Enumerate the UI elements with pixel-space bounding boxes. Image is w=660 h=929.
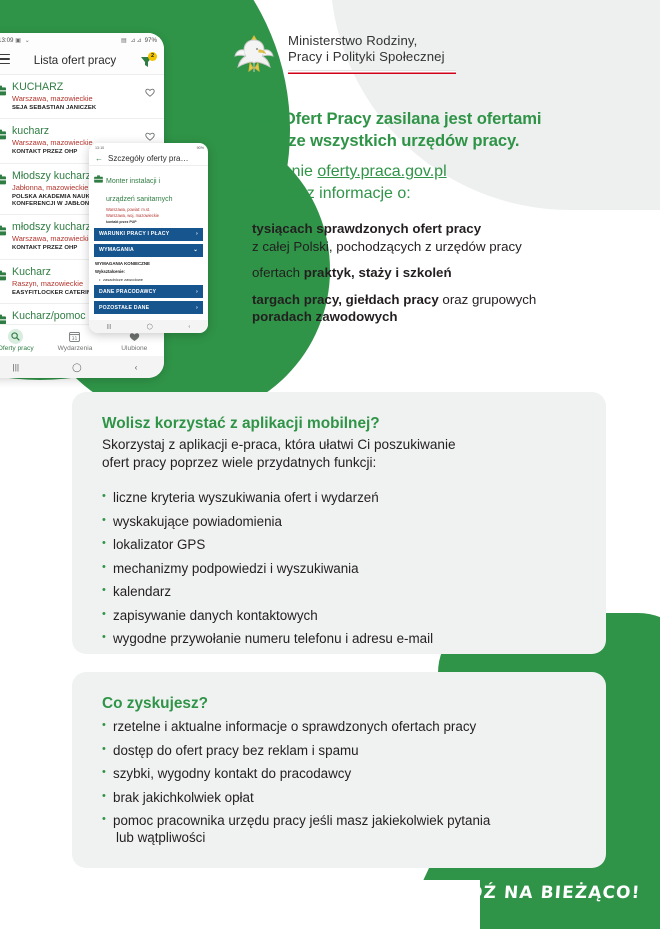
section-work-conditions[interactable]: WARUNKI PRACY I PŁACY › [94, 228, 203, 241]
chevron-right-icon: › [196, 289, 198, 295]
list-item: kalendarz [102, 583, 576, 600]
section-label: DANE PRACODAWCY [99, 289, 156, 295]
search-icon [8, 329, 23, 344]
back-button[interactable]: ‹ [188, 324, 190, 330]
hero-block: Baza Ofert Pracy zasilana jest ofertami … [240, 108, 640, 335]
hero-bullet-1-line2: z całej Polski, pochodzących z urzędów p… [252, 239, 522, 254]
nav-label: Ulubione [121, 345, 147, 352]
list-item: rzetelne i aktualne informacje o sprawdz… [102, 718, 576, 735]
briefcase-icon [94, 170, 103, 225]
nav-item-offers[interactable]: Oferty pracy [0, 329, 45, 352]
offer-header: Monter instalacji i urządzeń sanitarnych… [94, 170, 203, 225]
list-item: zapisywanie danych kontaktowych [102, 607, 576, 624]
mobile-app-feature-list: liczne kryteria wyszukiwania ofert i wyd… [102, 489, 576, 647]
hero-bullet-2-bold: praktyk, staży i szkoleń [304, 265, 452, 280]
hero-bullet-3-line2: poradach zawodowych [252, 309, 398, 324]
table-row[interactable]: KUCHARZ Warszawa, mazowieckie SEJA SEBAS… [0, 75, 164, 119]
heart-icon[interactable] [145, 81, 155, 112]
section-requirements[interactable]: WYMAGANIA ⌄ [94, 244, 203, 257]
list-item: wygodne przywołanie numeru telefonu i ad… [102, 630, 576, 647]
list-item: wyskakujące powiadomienia [102, 513, 576, 530]
list-item: lokalizator GPS [102, 536, 576, 553]
filter-badge-count: 2 [148, 52, 157, 61]
nav-label: Oferty pracy [0, 345, 34, 352]
chevron-down-icon: ⌄ [193, 247, 198, 253]
status-bar: 13:09 ▣ ⌄ ▤ ⊿⊿ 97% [0, 33, 164, 47]
offer-title-line1: Monter instalacji i [106, 178, 160, 185]
recents-button[interactable]: ||| [107, 324, 111, 330]
briefcase-icon [0, 266, 6, 297]
back-button[interactable]: ‹ [135, 362, 138, 372]
job-title: KUCHARZ [12, 81, 139, 93]
job-body: KUCHARZ Warszawa, mazowieckie SEJA SEBAS… [12, 81, 139, 112]
hero-title: Baza Ofert Pracy zasilana jest ofertami … [240, 108, 640, 152]
home-button[interactable]: ◯ [147, 324, 153, 330]
ministry-name-line1: Ministerstwo Rodziny, [288, 33, 456, 49]
offer-text-block: Monter instalacji i urządzeń sanitarnych… [106, 170, 173, 225]
list-item-text: szybki, wygodny kontakt do pracodawcy [113, 766, 351, 781]
chevron-right-icon: › [196, 231, 198, 237]
ministry-name-line2: Pracy i Polityki Społecznej [288, 49, 456, 65]
job-employer: SEJA SEBASTIAN JANICZEK [12, 105, 139, 112]
section-label: WYMAGANIA [99, 247, 134, 253]
list-item: liczne kryteria wyszukiwania ofert i wyd… [102, 489, 576, 506]
offer-detail-body: Monter instalacji i urządzeń sanitarnych… [89, 166, 208, 314]
list-item: pomoc pracownika urzędu pracy jeśli masz… [102, 812, 576, 846]
app-bar-title: Szczegóły oferty pra… [108, 154, 188, 163]
portal-link[interactable]: oferty.praca.gov.pl [317, 163, 446, 180]
svg-text:31: 31 [72, 336, 78, 342]
status-left: 13:09 ▣ ⌄ [0, 37, 31, 44]
hero-title-line1: Baza Ofert Pracy zasilana jest ofertami [240, 109, 541, 128]
benefits-list: rzetelne i aktualne informacje o sprawdz… [102, 718, 576, 846]
section-label: POZOSTAŁE DANE [99, 305, 149, 311]
battery-level: 90% [197, 146, 204, 150]
mobile-app-lead: Skorzystaj z aplikacji e-praca, która uł… [102, 436, 576, 472]
offer-title-line2: urządzeń sanitarnych [106, 196, 173, 203]
list-item-text: brak jakichkolwiek opłat [113, 790, 254, 805]
recents-button[interactable]: ||| [13, 362, 20, 372]
hero-bullet-1: tysiącach sprawdzonych ofert pracy z cał… [240, 220, 640, 255]
status-bar: 13:10 90% [89, 143, 208, 152]
status-time: 13:10 [95, 146, 104, 150]
status-left-icons: ▣ ⌄ [15, 37, 31, 44]
hero-bullet-1-bold: tysiącach sprawdzonych ofert pracy [252, 221, 481, 236]
offer-location-line1: Warszawa, powiat: m.st. [106, 207, 173, 212]
polish-eagle-emblem-icon [232, 30, 276, 80]
mobile-app-card: Wolisz korzystać z aplikacji mobilnej? S… [72, 392, 606, 654]
section-employer-data[interactable]: DANE PRACODAWCY › [94, 285, 203, 298]
list-item: szybki, wygodny kontakt do pracodawcy [102, 765, 576, 782]
footer-slogan: BĄDŹ NA BIEŻĄCO! [439, 883, 641, 903]
hero-subtitle: Na stronie oferty.praca.gov.pl znajdzies… [240, 161, 640, 205]
job-location: Warszawa, mazowieckie [12, 94, 139, 104]
hero-title-line2: pracy ze wszystkich urzędów pracy. [240, 131, 519, 150]
hero-sub-prefix: Na stronie [240, 163, 317, 180]
requirements-heading: WYMAGANIA KONIECZNE [95, 261, 203, 266]
hero-bullet-3: targach pracy, giełdach pracy oraz grupo… [240, 291, 640, 326]
hero-bullet-list: tysiącach sprawdzonych ofert pracy z cał… [240, 220, 640, 326]
list-item-text: rzetelne i aktualne informacje o sprawdz… [113, 719, 476, 734]
hero-bullet-3-bold: targach pracy, giełdach pracy [252, 292, 439, 307]
app-bar: ← Szczegóły oferty pra… [89, 152, 208, 166]
mobile-app-lead-line2: ofert pracy poprzez wiele przydatnych fu… [102, 455, 376, 470]
app-bar: Lista ofert pracy 2 [0, 47, 164, 75]
nav-label: Wydarzenia [58, 345, 93, 352]
system-navigation-bar: ||| ◯ ‹ [89, 320, 208, 333]
requirements-subheading: Wykształcenie: [95, 269, 203, 274]
benefits-card: Co zyskujesz? rzetelne i aktualne inform… [72, 672, 606, 868]
flag-rule-divider [288, 70, 456, 74]
job-title: kucharz [12, 125, 139, 137]
list-item-text: dostęp do ofert pracy bez reklam i spamu [113, 743, 359, 758]
poster-page: Ministerstwo Rodziny, Pracy i Polityki S… [0, 0, 660, 929]
list-item: mechanizmy podpowiedzi i wyszukiwania [102, 560, 576, 577]
briefcase-icon [0, 81, 6, 112]
offer-contact-note: kontakt przez PUP [106, 220, 173, 225]
status-time: 13:09 [0, 37, 13, 44]
chevron-right-icon: › [196, 305, 198, 311]
arrow-left-icon[interactable]: ← [95, 155, 103, 163]
status-right: ▤ ⊿⊿ 97% [121, 37, 157, 44]
briefcase-icon [0, 170, 6, 209]
ministry-header: Ministerstwo Rodziny, Pracy i Polityki S… [232, 30, 456, 80]
calendar-31-icon: 31 [67, 329, 82, 344]
briefcase-icon [0, 221, 6, 252]
hamburger-menu-icon[interactable] [0, 54, 10, 68]
list-item-text: pomoc pracownika urzędu pracy jeśli masz… [113, 813, 490, 828]
offer-location-line2: Warszawa, woj. mazowieckie [106, 213, 173, 218]
decor-white-bottom [0, 880, 480, 929]
system-navigation-bar: ||| ◯ ‹ [0, 356, 164, 378]
list-item: dostęp do ofert pracy bez reklam i spamu [102, 742, 576, 759]
phone-mockup-offer-detail: 13:10 90% ← Szczegóły oferty pra… Monter… [89, 143, 208, 333]
hero-bullet-3-rest: oraz grupowych [439, 292, 537, 307]
benefits-heading: Co zyskujesz? [102, 694, 576, 714]
app-bar-title: Lista ofert pracy [10, 54, 140, 67]
list-item-text-line2: lub wątpliwości [113, 829, 576, 846]
filter-funnel-icon[interactable]: 2 [140, 52, 156, 70]
battery-level: 97% [145, 37, 157, 44]
list-item: brak jakichkolwiek opłat [102, 789, 576, 806]
requirements-item: zasadnicze zawodowe [99, 277, 203, 282]
hero-bullet-2: ofertach praktyk, staży i szkoleń [240, 264, 640, 282]
hero-sub-line2: znajdziesz informacje o: [240, 185, 411, 202]
status-right-icons: ▤ ⊿⊿ [121, 37, 143, 44]
home-button[interactable]: ◯ [72, 362, 82, 373]
section-other-data[interactable]: POZOSTAŁE DANE › [94, 301, 203, 314]
briefcase-icon [0, 125, 6, 156]
section-label: WARUNKI PRACY I PŁACY [99, 231, 169, 237]
mobile-app-heading: Wolisz korzystać z aplikacji mobilnej? [102, 414, 576, 434]
mobile-app-lead-line1: Skorzystaj z aplikacji e-praca, która uł… [102, 437, 456, 452]
hero-bullet-2-pre: ofertach [252, 265, 304, 280]
